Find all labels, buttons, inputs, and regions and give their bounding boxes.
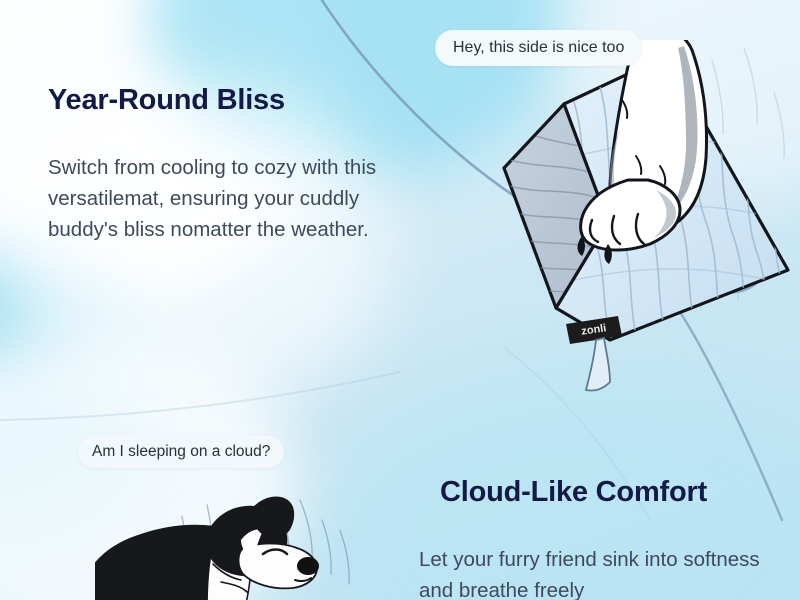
mat-strap bbox=[586, 338, 610, 391]
page-title-cloud-like-comfort: Cloud-Like Comfort bbox=[440, 476, 707, 509]
speech-bubble-top: Hey, this side is nice too bbox=[435, 30, 642, 66]
body-text-year-round-bliss: Switch from cooling to cozy with this ve… bbox=[48, 152, 398, 245]
sleeping-dog-illustration bbox=[95, 490, 375, 600]
mat-and-paw-illustration: zonli bbox=[470, 40, 800, 400]
page-title-year-round-bliss: Year-Round Bliss bbox=[48, 84, 285, 117]
speech-bubble-bottom: Am I sleeping on a cloud? bbox=[78, 436, 284, 468]
body-text-cloud-like-comfort: Let your furry friend sink into softness… bbox=[419, 544, 799, 600]
product-feature-page: zonli bbox=[0, 0, 800, 600]
